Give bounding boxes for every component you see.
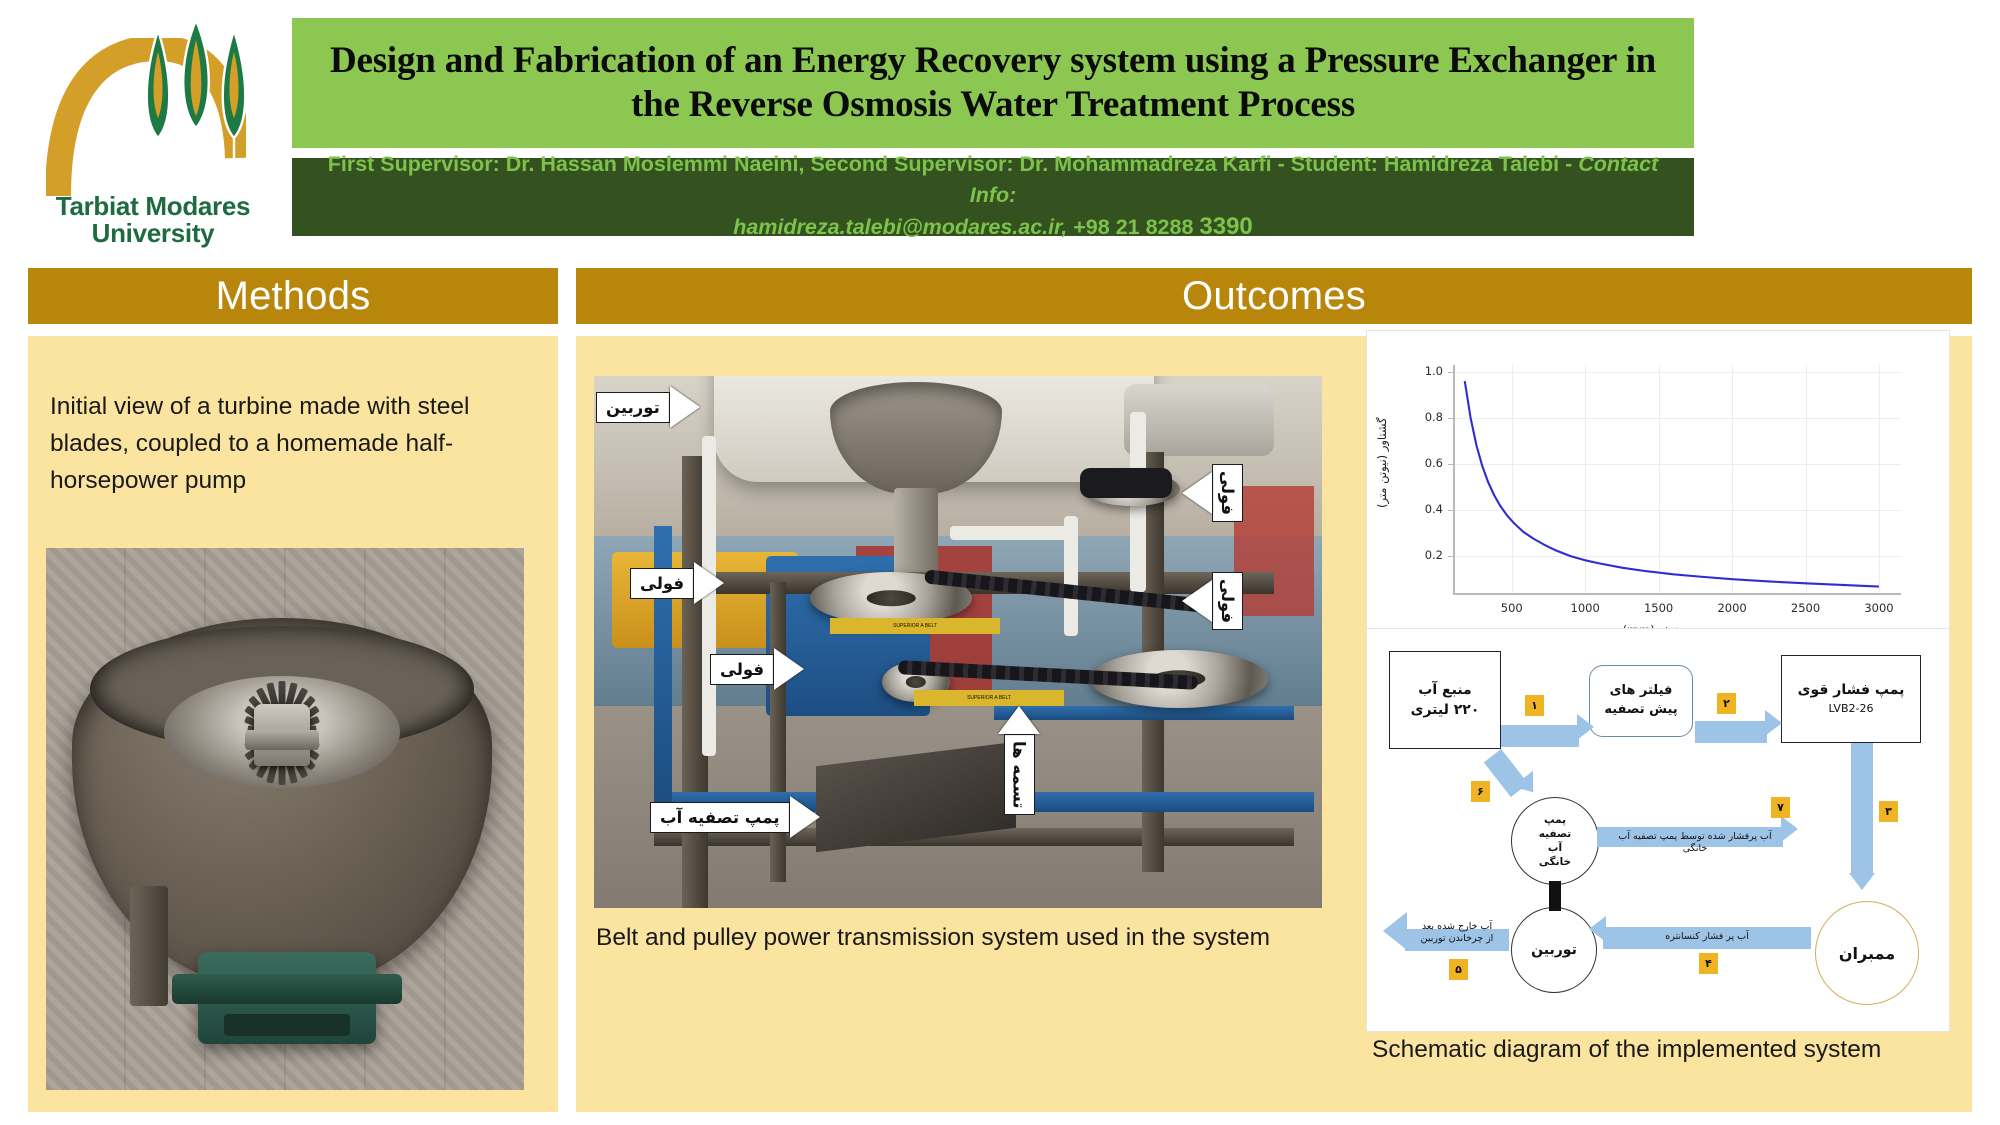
authors-text: First Supervisor: Dr. Hassan Moslemmi Na… [292, 149, 1694, 244]
node-membrane: ممبران [1815, 901, 1919, 1005]
contact-email: hamidreza.talebi@modares.ac.ir, [733, 215, 1073, 239]
callout-label-belts: تسمه ها [1004, 734, 1035, 815]
callout-pulley-3: فولی [1182, 464, 1243, 522]
chart-line-torque [1465, 381, 1879, 586]
university-logo: Tarbiat Modares University [28, 8, 278, 258]
callout-label-pulley-1: فولی [630, 568, 694, 599]
flow-arrow-4-head [1589, 916, 1606, 942]
logo-wordmark: Tarbiat Modares University [28, 193, 278, 246]
torque-chart-plot: 500100015002000250030000.20.40.60.81.0سر… [1453, 365, 1901, 593]
arrow-right-icon [774, 648, 804, 690]
callout-water-pump: پمپ تصفیه آب [650, 796, 820, 838]
lab-setup-photo: SUPERIOR A BELT SUPERIOR A BELT توربین ف… [594, 376, 1322, 908]
badge-4: ۴ [1699, 953, 1718, 974]
flow-label-outlet-line1: آب خارج شده بعد [1403, 921, 1511, 933]
turbine-photo [46, 548, 524, 1090]
x-axis-tick-label: 500 [1482, 601, 1542, 615]
poster-root: Tarbiat Modares University Design and Fa… [0, 0, 2000, 1125]
pulley-bore [867, 590, 916, 606]
contact-phone-suffix: 3390 [1199, 213, 1252, 240]
badge-2: ۲ [1717, 693, 1736, 714]
methods-panel: Initial view of a turbine made with stee… [28, 336, 558, 1112]
arrow-right-icon [670, 386, 700, 428]
node-water-source: منبع آب ۲۲۰ لیتری [1389, 651, 1501, 749]
node-water-source-line1: منبع آب [1418, 680, 1471, 700]
node-home-pump-line1: پمپ [1544, 813, 1566, 827]
y-axis-tick-label: 1.0 [1401, 364, 1443, 378]
y-axis-tick-label: 0.4 [1401, 502, 1443, 516]
flow-label-hp-concentrate: آب پر فشار کنسانتره [1617, 931, 1797, 943]
logo-tulip-icon [136, 18, 256, 188]
node-turbine: توربین [1511, 907, 1597, 993]
flow-arrow-1-head [1577, 714, 1594, 740]
node-home-pump-line2: تصفیه [1539, 827, 1572, 841]
belt-label-upper: SUPERIOR A BELT [830, 618, 1000, 634]
torque-chart-card: 500100015002000250030000.20.40.60.81.0سر… [1366, 330, 1950, 660]
black-cap-fitting [1080, 468, 1172, 498]
x-axis-line [1453, 593, 1901, 595]
schematic-caption: Schematic diagram of the implemented sys… [1372, 1036, 1881, 1064]
node-prefilters-line2: پیش تصفیه [1604, 701, 1677, 720]
arrow-left-icon [1182, 580, 1212, 622]
authors-names: First Supervisor: Dr. Hassan Moslemmi Na… [328, 152, 1579, 176]
section-title-methods: Methods [216, 274, 371, 319]
callout-label-pulley-4: فولی [1212, 572, 1243, 630]
chart-series-layer [1453, 365, 1901, 593]
schematic-card: منبع آب ۲۲۰ لیتری فیلتر های پیش تصفیه پم… [1366, 628, 1950, 1032]
housing-support-leg [130, 886, 168, 1006]
photo-secondary-vessel [1124, 384, 1274, 456]
section-header-methods: Methods [28, 268, 558, 324]
white-pipe-vertical [1064, 516, 1078, 636]
methods-paragraph: Initial view of a turbine made with stee… [50, 388, 520, 500]
callout-belts: تسمه ها [998, 706, 1040, 815]
x-axis-tick-label: 2000 [1702, 601, 1762, 615]
x-axis-tick-label: 2500 [1776, 601, 1836, 615]
callout-label-turbine: توربین [596, 392, 670, 423]
badge-5: ۵ [1449, 959, 1468, 980]
callout-pulley-1: فولی [630, 562, 724, 604]
flow-label-pressurized-home: آب پرفشار شده توسط پمپ تصفیه آب خانگی [1605, 831, 1785, 855]
node-water-source-line2: ۲۲۰ لیتری [1411, 700, 1480, 720]
node-prefilters: فیلتر های پیش تصفیه [1589, 665, 1693, 737]
turbine-center-bolt [254, 704, 310, 766]
poster-title-bar: Design and Fabrication of an Energy Reco… [292, 18, 1694, 148]
callout-pulley-2: فولی [710, 648, 804, 690]
authors-bar: First Supervisor: Dr. Hassan Moslemmi Na… [292, 158, 1694, 236]
outcomes-panel: SUPERIOR A BELT SUPERIOR A BELT توربین ف… [576, 336, 1972, 1112]
node-home-pump-line4: خانگی [1539, 855, 1571, 869]
node-membrane-label: ممبران [1839, 944, 1895, 963]
arrow-right-icon [694, 562, 724, 604]
lab-photo-caption: Belt and pulley power transmission syste… [596, 924, 1270, 952]
flow-arrow-2-body [1695, 721, 1767, 743]
x-axis-tick-label: 1500 [1629, 601, 1689, 615]
flow-arrow-2-head [1765, 710, 1782, 736]
pump-motor-base [198, 952, 376, 1044]
page-title: Design and Fabrication of an Energy Reco… [292, 39, 1694, 126]
callout-pulley-4: فولی [1182, 572, 1243, 630]
node-hp-pump-label: پمپ فشار قوی [1798, 680, 1905, 701]
badge-3: ۳ [1879, 801, 1898, 822]
node-hp-pump-model: LVB2-26 [1829, 701, 1874, 718]
node-turbine-label: توربین [1531, 942, 1577, 958]
badge-6: ۶ [1471, 781, 1490, 802]
x-axis-tick-label: 3000 [1849, 601, 1909, 615]
belt-label-lower: SUPERIOR A BELT [914, 690, 1064, 706]
arrow-up-icon [998, 706, 1040, 734]
badge-1: ۱ [1525, 695, 1544, 716]
x-axis-tick-label: 1000 [1555, 601, 1615, 615]
mechanical-coupling-link [1549, 881, 1561, 911]
section-title-outcomes: Outcomes [1182, 274, 1366, 319]
y-axis-tick-label: 0.8 [1401, 410, 1443, 424]
callout-label-pulley-2: فولی [710, 654, 774, 685]
contact-phone-prefix: +98 21 8288 [1073, 215, 1199, 239]
flow-label-outlet-line2: از چرخاندن توربین [1403, 933, 1511, 945]
flow-arrow-3-head [1849, 873, 1875, 890]
white-pipe-horizontal [950, 526, 1070, 540]
arrow-left-icon [1182, 472, 1212, 514]
flow-arrow-1-body [1501, 725, 1579, 747]
pulley-bore [906, 676, 926, 688]
callout-label-pulley-3: فولی [1212, 464, 1243, 522]
arrow-right-icon [790, 796, 820, 838]
section-header-outcomes: Outcomes [576, 268, 1972, 324]
callout-turbine: توربین [596, 386, 700, 428]
flow-label-outlet: آب خارج شده بعد از چرخاندن توربین [1403, 921, 1511, 945]
logo-line-1: Tarbiat Modares [28, 193, 278, 220]
y-axis-tick-label: 0.6 [1401, 456, 1443, 470]
badge-7: ۷ [1771, 797, 1790, 818]
callout-label-water-pump: پمپ تصفیه آب [650, 802, 790, 833]
node-home-pump-line3: آب [1548, 841, 1562, 855]
y-axis-tick-label: 0.2 [1401, 548, 1443, 562]
node-high-pressure-pump: پمپ فشار قوی LVB2-26 [1781, 655, 1921, 743]
logo-line-2: University [28, 220, 278, 247]
photo-red-panel-2 [1234, 486, 1314, 616]
y-axis-title: گشتاور (نیوتن متر) [1375, 417, 1389, 541]
flow-arrow-3-body [1851, 743, 1873, 875]
node-prefilters-line1: فیلتر های [1610, 682, 1673, 701]
node-home-water-pump: پمپ تصفیه آب خانگی [1511, 797, 1599, 885]
